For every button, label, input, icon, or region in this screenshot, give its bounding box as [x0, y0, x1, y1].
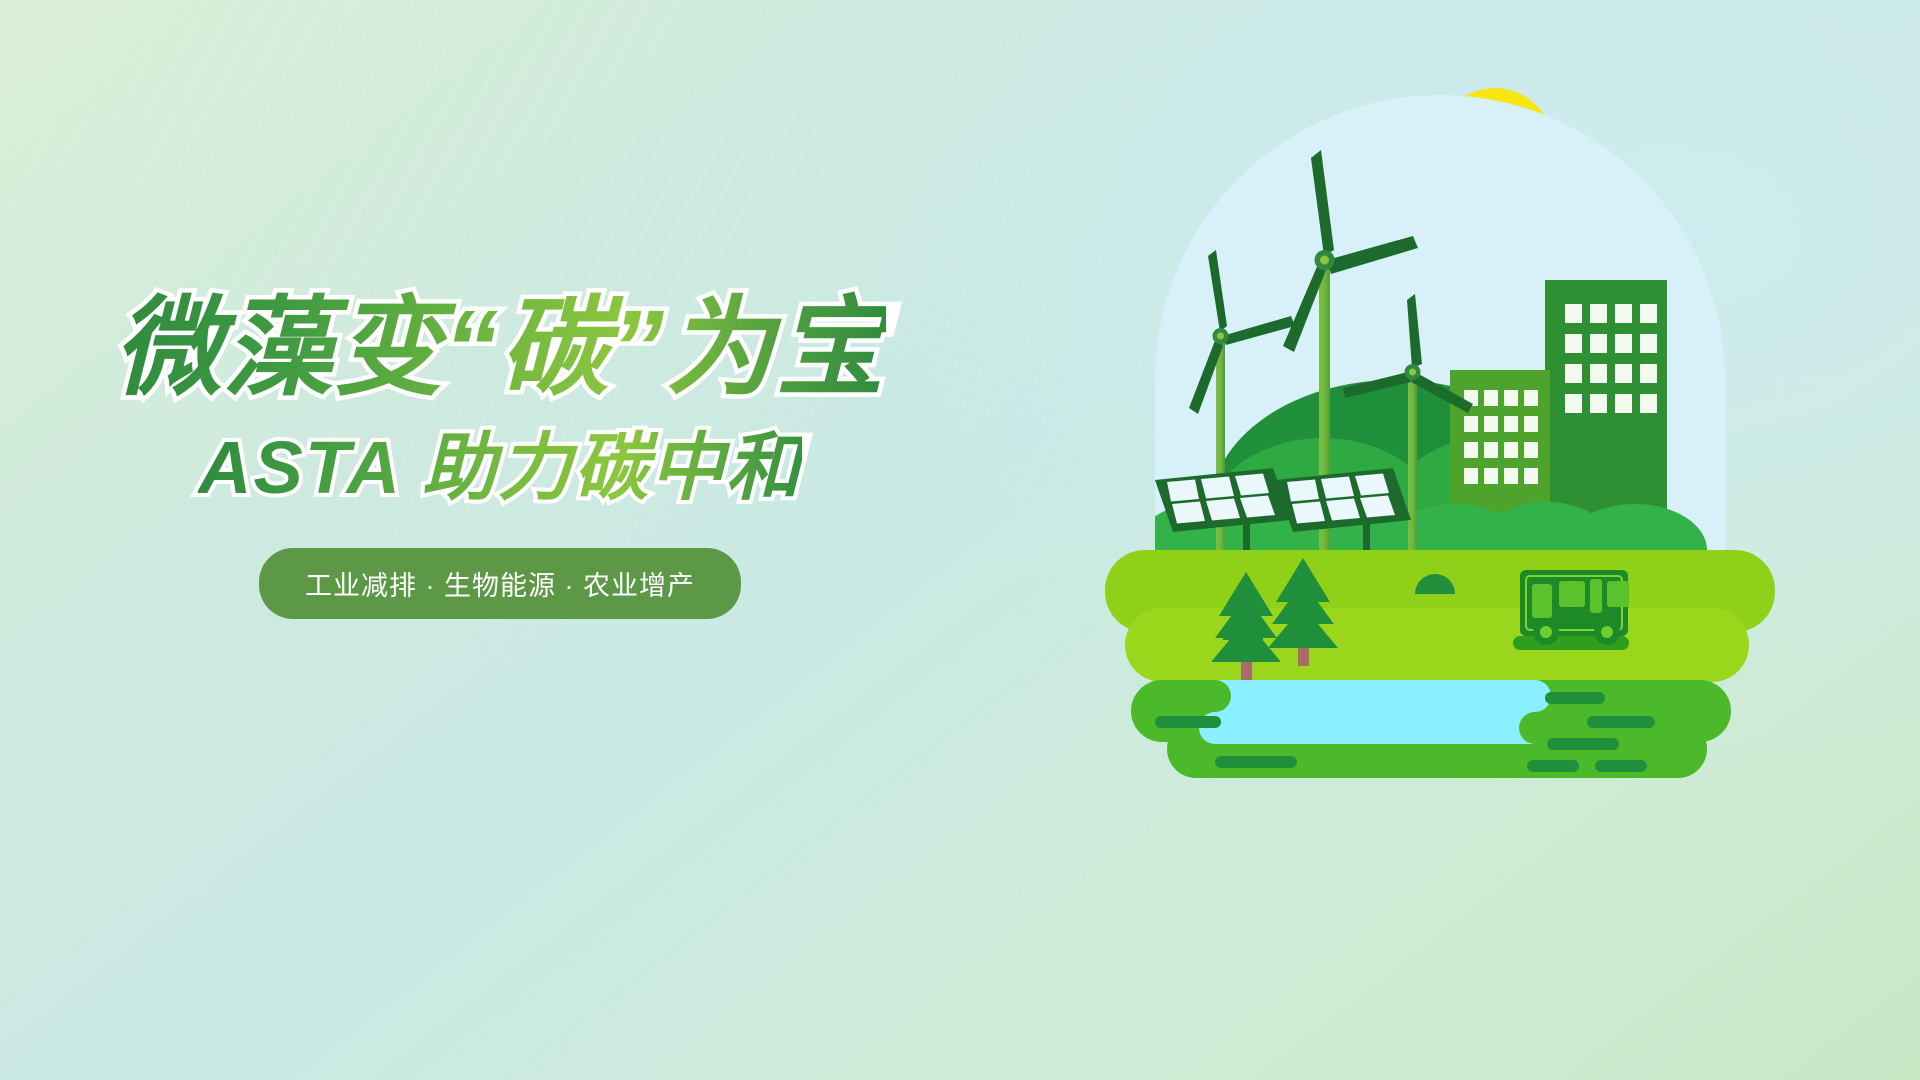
green-eco-city-illustration: [1095, 80, 1785, 780]
tagline-pill: 工业减排 · 生物能源 · 农业增产: [259, 548, 741, 619]
page-title: 微藻变“碳”为宝 微藻变“碳”为宝: [114, 290, 886, 407]
grass-field: [1105, 550, 1775, 682]
hero-text-block: 微藻变“碳”为宝 微藻变“碳”为宝 ASTA 助力碳中和 ASTA 助力碳中和 …: [0, 290, 1000, 619]
page-title-text: 微藻变“碳”为宝: [114, 290, 886, 407]
bus-icon: [1513, 570, 1629, 650]
eco-banner: 微藻变“碳”为宝 微藻变“碳”为宝 ASTA 助力碳中和 ASTA 助力碳中和 …: [0, 0, 1920, 1080]
page-subtitle-text: ASTA 助力碳中和: [198, 427, 802, 508]
lake: [1199, 680, 1551, 744]
page-subtitle: ASTA 助力碳中和 ASTA 助力碳中和: [198, 427, 802, 508]
